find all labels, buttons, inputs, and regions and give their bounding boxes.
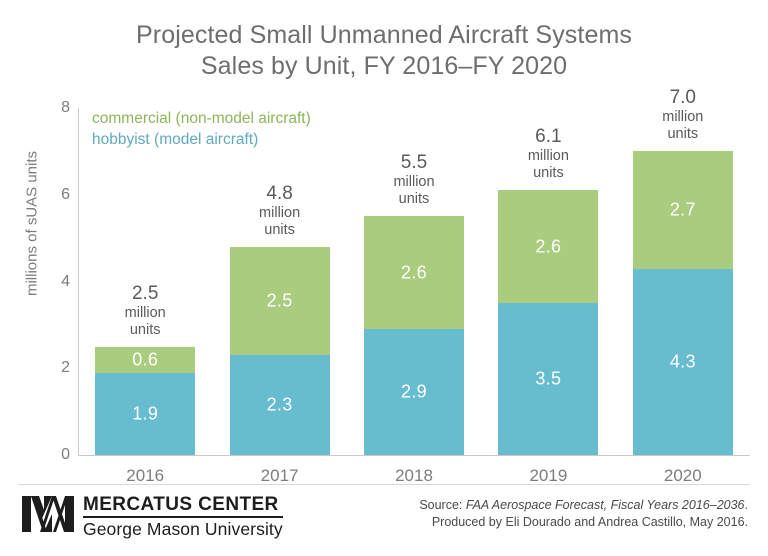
bar-value-hobbyist-2018: 2.9 bbox=[364, 382, 464, 403]
bar-value-hobbyist-2017: 2.3 bbox=[230, 395, 330, 416]
bar-total-label-2019: 6.1millionunits bbox=[486, 125, 610, 182]
x-axis-tick-2017: 2017 bbox=[218, 466, 342, 486]
bar-total-value: 5.5 bbox=[352, 151, 476, 174]
bar-total-unit-line-2: units bbox=[83, 322, 207, 339]
source-note: Source: FAA Aerospace Forecast, Fiscal Y… bbox=[419, 497, 748, 531]
x-axis-tick-2020: 2020 bbox=[621, 466, 745, 486]
bar-total-value: 4.8 bbox=[218, 182, 342, 205]
bar-total-label-2018: 5.5millionunits bbox=[352, 151, 476, 208]
mercatus-logo-name: MERCATUS CENTER bbox=[83, 495, 283, 518]
x-axis-tick-2019: 2019 bbox=[486, 466, 610, 486]
mercatus-m-mark-icon bbox=[22, 494, 74, 539]
bar-segment-commercial-2018[interactable]: 2.6 bbox=[364, 216, 464, 329]
bar-segment-hobbyist-2017[interactable]: 2.3 bbox=[230, 355, 330, 455]
bar-segment-hobbyist-2018[interactable]: 2.9 bbox=[364, 329, 464, 455]
bar-total-unit-line-1: million bbox=[218, 205, 342, 222]
bar-value-hobbyist-2020: 4.3 bbox=[633, 351, 733, 372]
bar-total-unit-line-1: million bbox=[83, 305, 207, 322]
bar-total-unit-line-2: units bbox=[621, 126, 745, 143]
bar-total-unit-line-1: million bbox=[352, 174, 476, 191]
bar-group-2019[interactable]: 6.1millionunits2.63.5 bbox=[498, 190, 598, 455]
bar-segment-commercial-2020[interactable]: 2.7 bbox=[633, 151, 733, 268]
source-line-2: Produced by Eli Dourado and Andrea Casti… bbox=[419, 514, 748, 531]
mercatus-logo-text: MERCATUS CENTER George Mason University bbox=[83, 495, 283, 539]
x-axis-tick-2018: 2018 bbox=[352, 466, 476, 486]
source-line-1: Source: FAA Aerospace Forecast, Fiscal Y… bbox=[419, 497, 748, 514]
bar-total-unit-line-2: units bbox=[352, 191, 476, 208]
y-axis-label: millions of sUAS units bbox=[24, 74, 41, 374]
mercatus-logo-subtitle: George Mason University bbox=[83, 518, 283, 539]
bar-segment-commercial-2016[interactable]: 0.6 bbox=[95, 347, 195, 373]
bar-total-unit-line-1: million bbox=[621, 109, 745, 126]
bar-group-2017[interactable]: 4.8millionunits2.52.3 bbox=[230, 247, 330, 455]
bar-group-2020[interactable]: 7.0millionunits2.74.3 bbox=[633, 151, 733, 455]
bar-value-commercial-2019: 2.6 bbox=[498, 236, 598, 257]
bar-value-commercial-2016: 0.6 bbox=[95, 349, 195, 370]
bar-group-2016[interactable]: 2.5millionunits0.61.9 bbox=[95, 347, 195, 455]
bar-segment-commercial-2019[interactable]: 2.6 bbox=[498, 190, 598, 303]
bar-total-value: 7.0 bbox=[621, 86, 745, 109]
bar-total-value: 6.1 bbox=[486, 125, 610, 148]
mercatus-logo: MERCATUS CENTER George Mason University bbox=[22, 494, 283, 539]
source-suffix: . bbox=[745, 498, 748, 512]
bar-total-unit-line-2: units bbox=[218, 222, 342, 239]
bar-value-commercial-2018: 2.6 bbox=[364, 262, 464, 283]
source-prefix: Source: bbox=[419, 498, 466, 512]
bar-total-unit-line-2: units bbox=[486, 165, 610, 182]
bar-total-label-2020: 7.0millionunits bbox=[621, 86, 745, 143]
bar-value-hobbyist-2019: 3.5 bbox=[498, 369, 598, 390]
bar-total-unit-line-1: million bbox=[486, 148, 610, 165]
bar-segment-commercial-2017[interactable]: 2.5 bbox=[230, 247, 330, 355]
bar-value-hobbyist-2016: 1.9 bbox=[95, 403, 195, 424]
bar-total-label-2016: 2.5millionunits bbox=[83, 282, 207, 339]
bar-segment-hobbyist-2016[interactable]: 1.9 bbox=[95, 373, 195, 455]
bar-value-commercial-2020: 2.7 bbox=[633, 199, 733, 220]
source-title: FAA Aerospace Forecast, Fiscal Years 201… bbox=[466, 498, 745, 512]
bar-total-label-2017: 4.8millionunits bbox=[218, 182, 342, 239]
y-axis-tick: 0 bbox=[10, 446, 70, 464]
bar-segment-hobbyist-2020[interactable]: 4.3 bbox=[633, 269, 733, 456]
x-axis-tick-2016: 2016 bbox=[83, 466, 207, 486]
bar-value-commercial-2017: 2.5 bbox=[230, 291, 330, 312]
bar-total-value: 2.5 bbox=[83, 282, 207, 305]
bar-segment-hobbyist-2019[interactable]: 3.5 bbox=[498, 303, 598, 455]
bar-group-2018[interactable]: 5.5millionunits2.62.9 bbox=[364, 216, 464, 455]
